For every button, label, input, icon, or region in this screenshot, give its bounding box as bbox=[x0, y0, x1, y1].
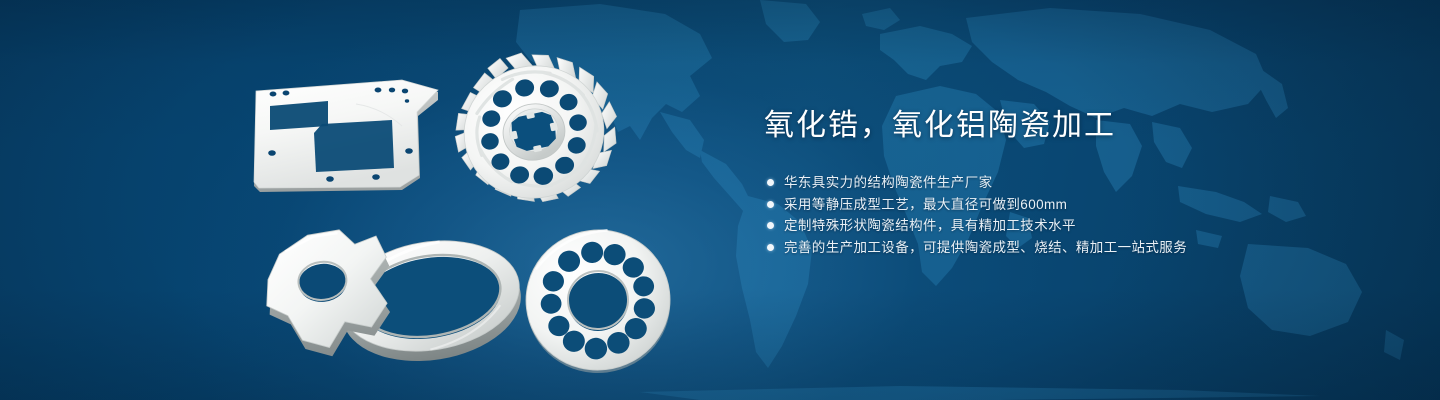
bullet-dot-icon bbox=[767, 244, 774, 251]
feature-bullet-text: 定制特殊形状陶瓷结构件，具有精加工技术水平 bbox=[784, 215, 1076, 237]
bullet-dot-icon bbox=[767, 222, 774, 229]
ceramic-perforated-disc-image bbox=[518, 226, 678, 376]
banner-headline: 氧化锆，氧化铝陶瓷加工 bbox=[764, 106, 1384, 146]
feature-bullet-text: 华东具实力的结构陶瓷件生产厂家 bbox=[784, 172, 993, 194]
bullet-dot-icon bbox=[767, 201, 774, 208]
feature-bullet-text: 完善的生产加工设备，可提供陶瓷成型、烧结、精加工一站式服务 bbox=[784, 237, 1187, 259]
banner-text-block: 氧化锆，氧化铝陶瓷加工 华东具实力的结构陶瓷件生产厂家 采用等静压成型工艺，最大… bbox=[764, 106, 1384, 258]
ceramic-impeller-image bbox=[446, 48, 626, 220]
feature-bullet-item: 采用等静压成型工艺，最大直径可做到600mm bbox=[767, 194, 1384, 216]
feature-bullet-item: 定制特殊形状陶瓷结构件，具有精加工技术水平 bbox=[767, 215, 1384, 237]
feature-bullet-item: 完善的生产加工设备，可提供陶瓷成型、烧结、精加工一站式服务 bbox=[767, 237, 1384, 259]
ceramic-products-banner: 氧化锆，氧化铝陶瓷加工 华东具实力的结构陶瓷件生产厂家 采用等静压成型工艺，最大… bbox=[0, 0, 1440, 400]
ceramic-cross-piece-image bbox=[250, 226, 400, 366]
bullet-dot-icon bbox=[767, 179, 774, 186]
feature-bullet-text: 采用等静压成型工艺，最大直径可做到600mm bbox=[784, 194, 1067, 216]
feature-bullet-item: 华东具实力的结构陶瓷件生产厂家 bbox=[767, 172, 1384, 194]
feature-bullet-list: 华东具实力的结构陶瓷件生产厂家 采用等静压成型工艺，最大直径可做到600mm 定… bbox=[767, 172, 1384, 258]
ceramic-plate-image bbox=[252, 78, 442, 198]
